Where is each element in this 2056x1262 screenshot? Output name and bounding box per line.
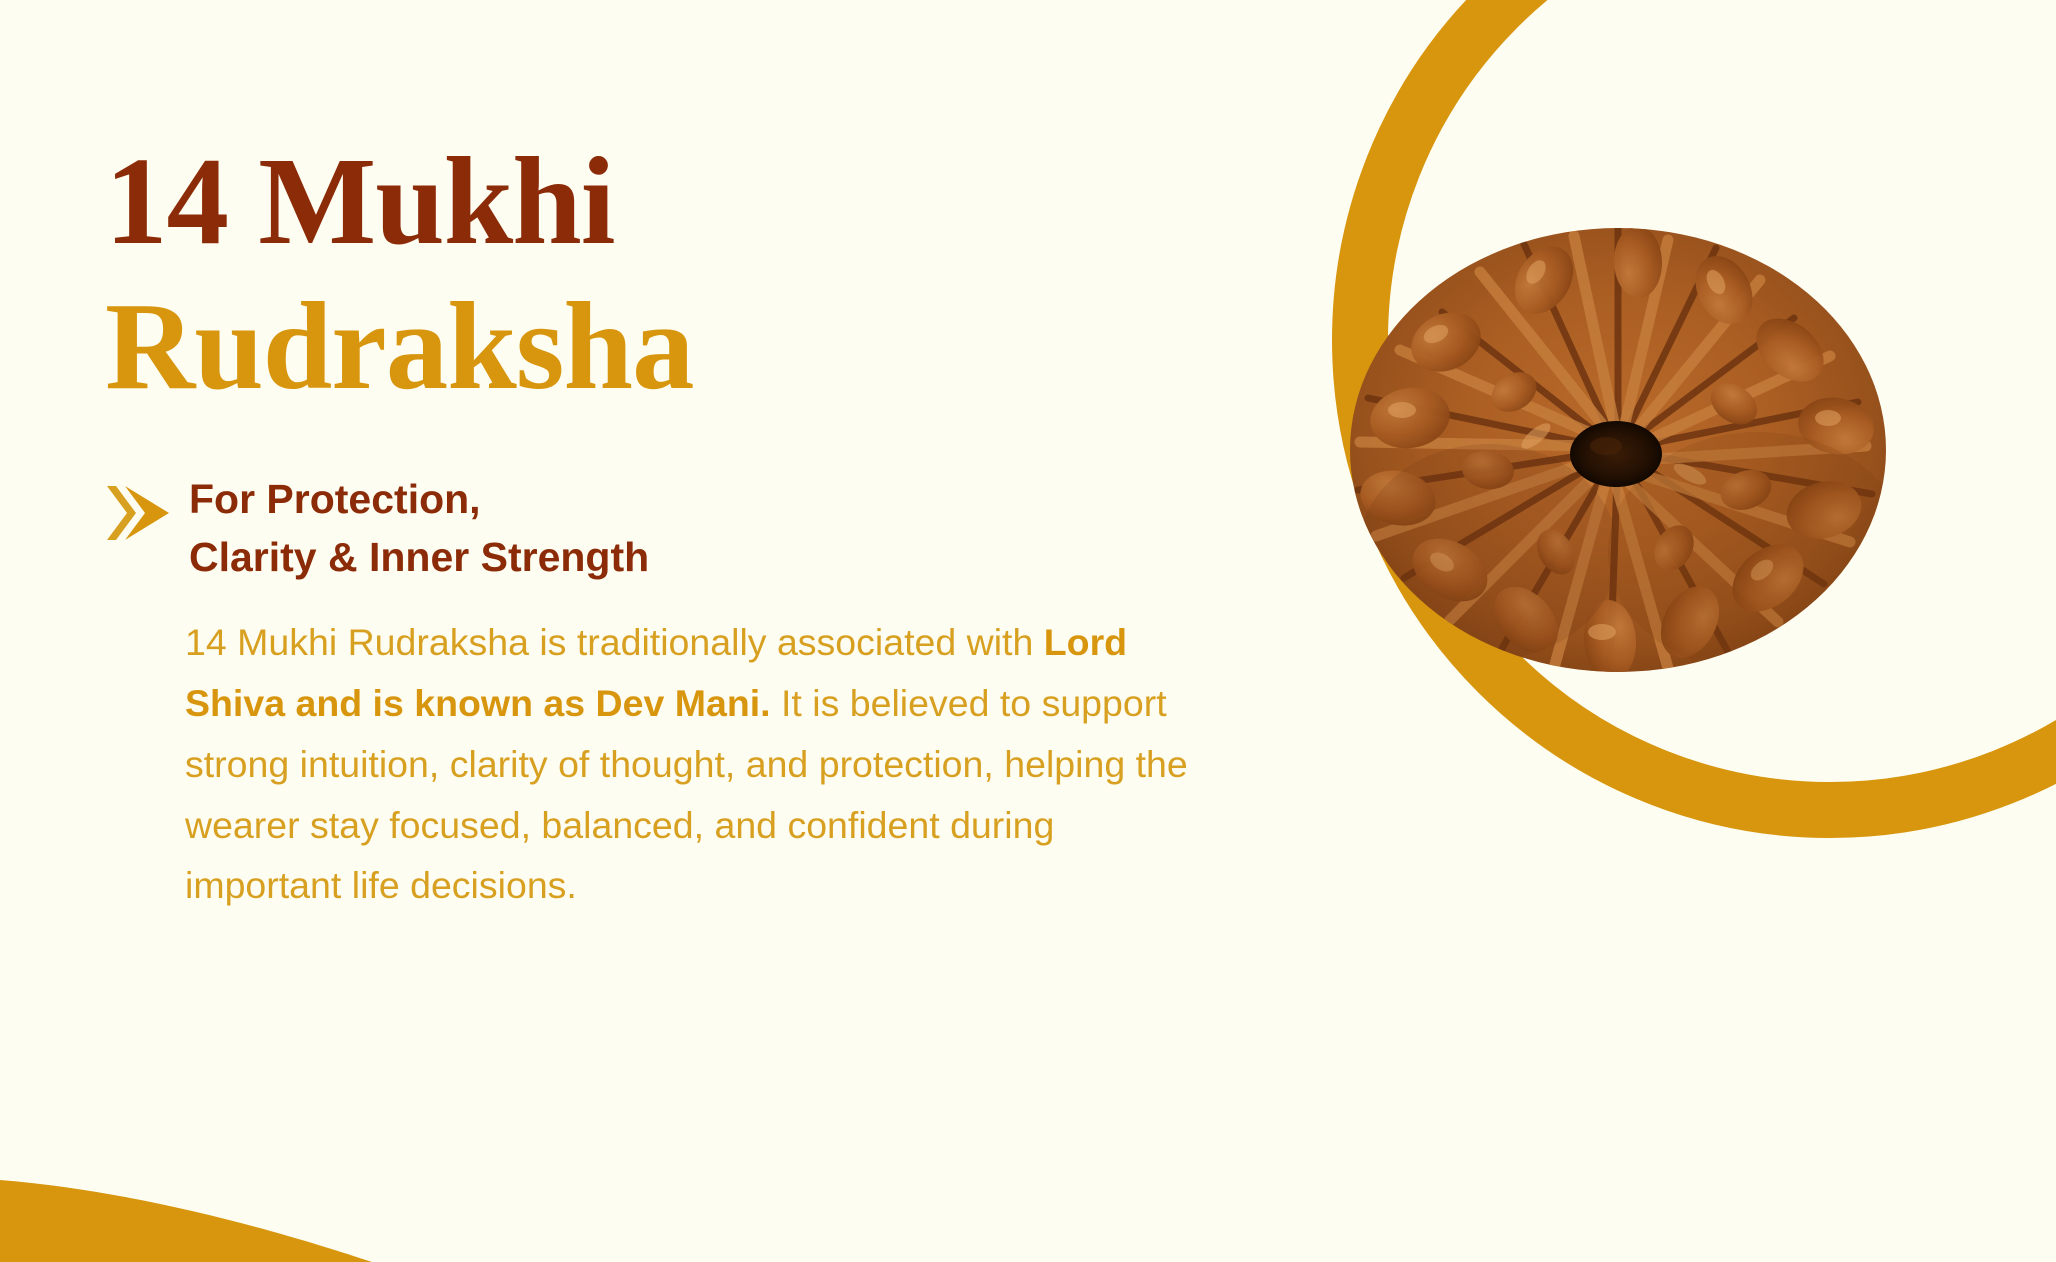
bead-center xyxy=(1570,421,1662,487)
subheading-line-1: For Protection, xyxy=(189,470,649,528)
subheading-text: For Protection, Clarity & Inner Strength xyxy=(189,468,649,586)
subheading-line-2: Clarity & Inner Strength xyxy=(189,528,649,586)
rudraksha-bead-photo xyxy=(1338,222,1898,684)
double-chevron-right-icon xyxy=(105,482,171,544)
slide-canvas: 14 Mukhi Rudraksha For Protection, Clari… xyxy=(0,0,2056,1262)
page-title: 14 Mukhi Rudraksha xyxy=(105,130,1335,420)
title-line-2: Rudraksha xyxy=(105,275,1335,420)
subheading-row: For Protection, Clarity & Inner Strength xyxy=(105,468,1335,586)
body-part-1: 14 Mukhi Rudraksha is traditionally asso… xyxy=(185,621,1044,663)
title-line-1: 14 Mukhi xyxy=(105,130,1335,275)
gold-corner-curve xyxy=(0,1180,372,1262)
content-column: 14 Mukhi Rudraksha For Protection, Clari… xyxy=(105,130,1335,916)
body-paragraph: 14 Mukhi Rudraksha is traditionally asso… xyxy=(185,612,1200,916)
